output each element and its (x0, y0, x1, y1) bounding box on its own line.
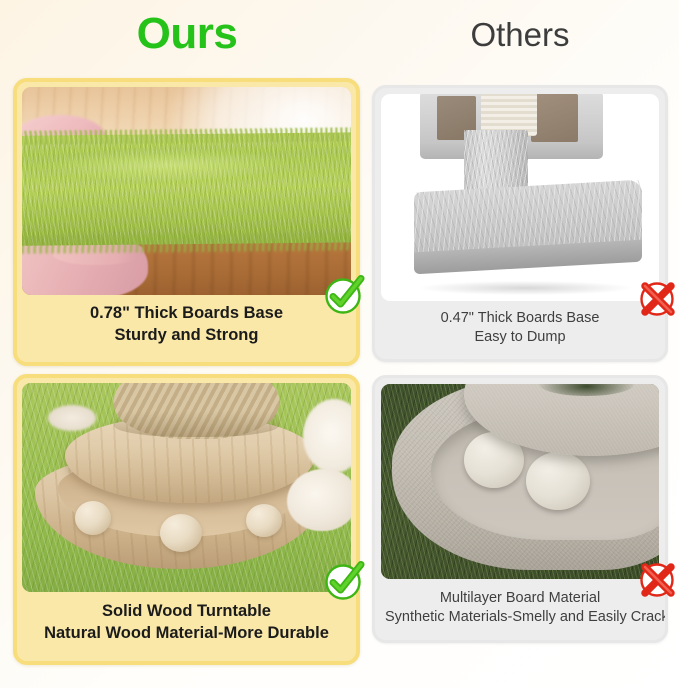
photo-others-multilayer-board-turntable (381, 384, 659, 579)
check-mark-icon (322, 272, 366, 316)
photo-others-thin-gray-base (381, 94, 659, 301)
check-mark-icon (322, 558, 366, 602)
comparison-headings: Ours Others (0, 0, 679, 78)
photo-ours-thick-plush-board (22, 87, 351, 295)
photo-ours-solid-wood-turntable (22, 383, 351, 592)
caption-line-2: Synthetic Materials-Smelly and Easily Cr… (385, 608, 655, 627)
caption-line-1: 0.78" Thick Boards Base (39, 303, 334, 325)
card-ours-thick-board: 0.78" Thick Boards Base Sturdy and Stron… (13, 78, 360, 366)
card-others-thin-board: 0.47" Thick Boards Base Easy to Dump (372, 85, 668, 362)
caption-ours-thick-board: 0.78" Thick Boards Base Sturdy and Stron… (17, 290, 356, 362)
caption-others-multilayer-turntable: Multilayer Board Material Synthetic Mate… (375, 578, 665, 640)
card-others-multilayer-turntable: Multilayer Board Material Synthetic Mate… (372, 375, 668, 643)
heading-others: Others (372, 18, 668, 51)
caption-line-1: Multilayer Board Material (385, 589, 655, 608)
cross-mark-icon (638, 557, 679, 601)
caption-others-thin-board: 0.47" Thick Boards Base Easy to Dump (375, 297, 665, 359)
caption-line-1: 0.47" Thick Boards Base (385, 309, 655, 328)
caption-line-1: Solid Wood Turntable (23, 601, 350, 623)
caption-ours-wood-turntable: Solid Wood Turntable Natural Wood Materi… (17, 587, 356, 661)
caption-line-2: Natural Wood Material-More Durable (23, 623, 350, 645)
heading-ours: Ours (14, 12, 360, 56)
caption-line-2: Easy to Dump (385, 328, 655, 347)
caption-line-2: Sturdy and Strong (39, 325, 334, 347)
cross-mark-icon (638, 276, 679, 320)
card-ours-wood-turntable: Solid Wood Turntable Natural Wood Materi… (13, 374, 360, 665)
